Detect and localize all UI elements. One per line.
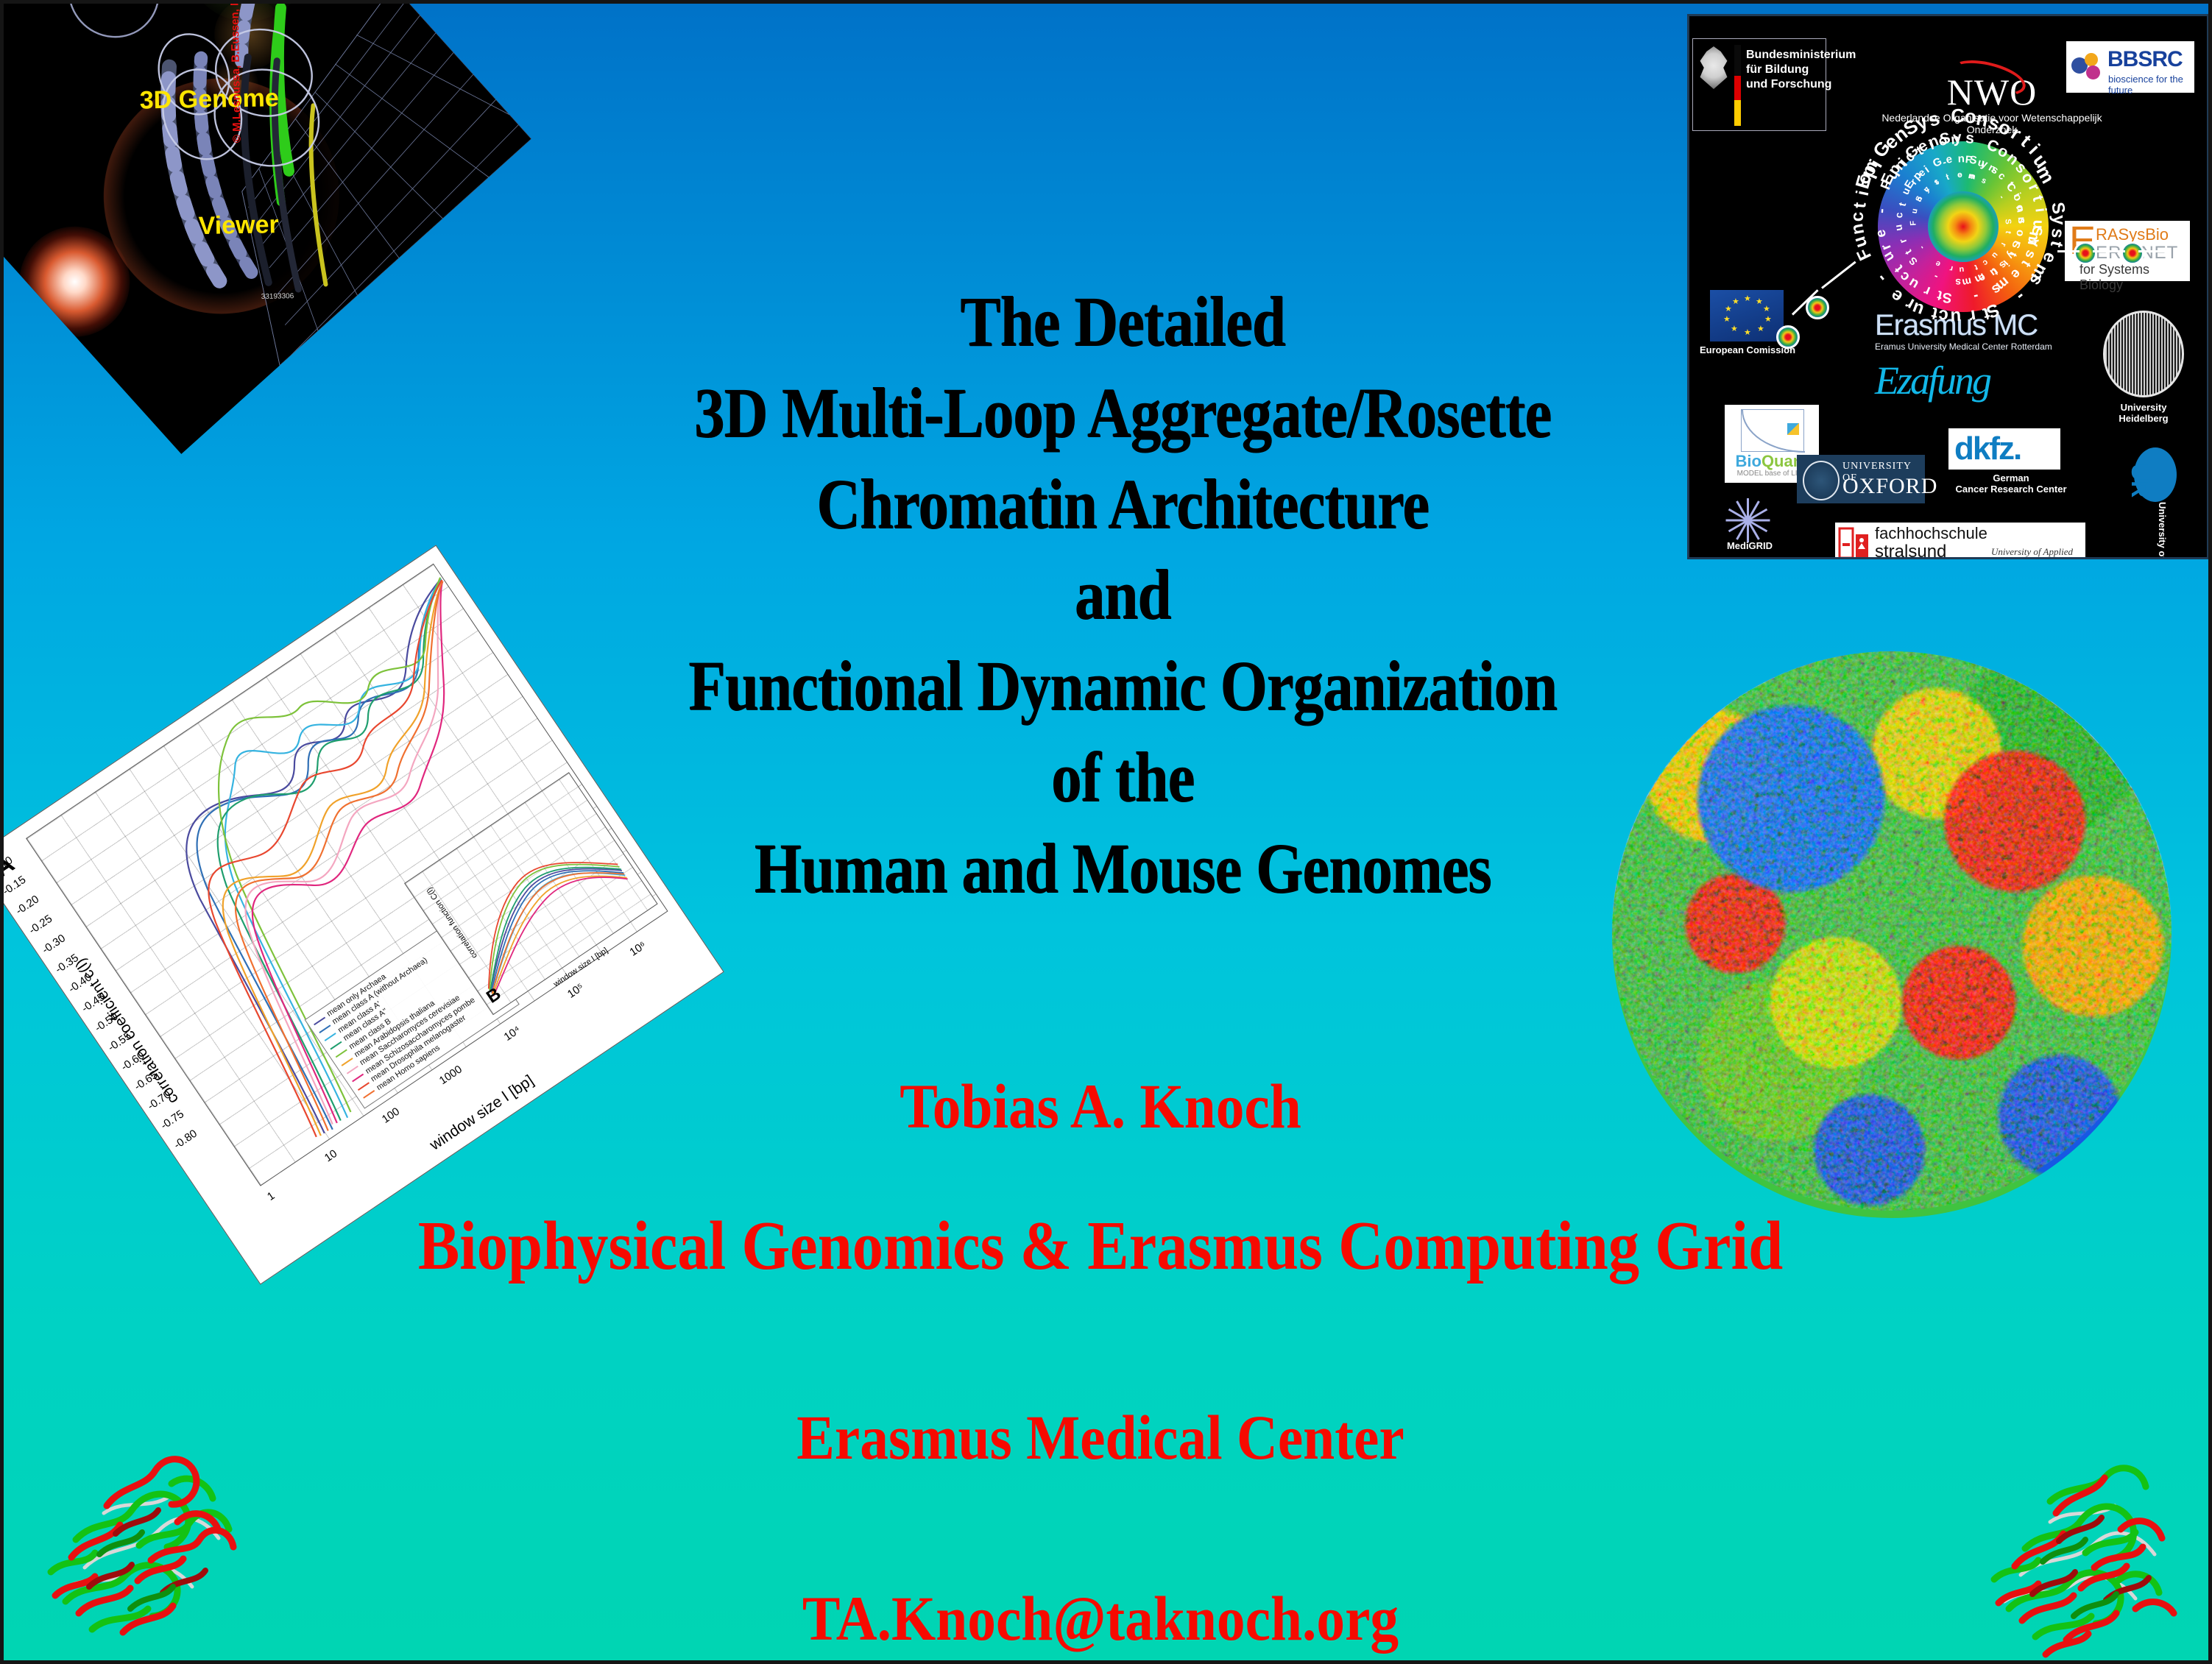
author-block: Tobias A. Knoch Biophysical Genomics & E… xyxy=(332,1074,1869,1650)
y-tick: -0.20 xyxy=(13,893,41,917)
regensburg-caption: University of Regensburg xyxy=(2157,502,2168,559)
author-name: Tobias A. Knoch xyxy=(332,1074,1869,1138)
genome-viewer-label-line2: Viewer xyxy=(198,210,279,241)
bbsrc-wordmark: BBSRC xyxy=(2107,47,2183,72)
title-line-4: and xyxy=(641,549,1603,640)
funders-logo-panel: Bundesministerium für Bildung und Forsch… xyxy=(1687,14,2209,559)
bbsrc-logo: BBSRC bioscience for the future xyxy=(2066,41,2194,93)
bmbf-line-2: für Bildung xyxy=(1746,63,1856,77)
epigensys-consortium-wheel: EpiGenSys ConsortiumSystems - Structure … xyxy=(1847,110,2080,343)
title-line-1: The Detailed xyxy=(641,276,1603,367)
bbsrc-tagline: bioscience for the future xyxy=(2108,74,2194,96)
stralsund-line-2: stralsund xyxy=(1875,542,1946,559)
bmbf-logo-text: Bundesministerium für Bildung und Forsch… xyxy=(1746,48,1856,92)
oxford-crest-icon xyxy=(1803,461,1840,500)
dkfz-line-2: Cancer Research Center xyxy=(1948,484,2074,495)
erasmus-mc-subtitle: Eramus University Medical Center Rotterd… xyxy=(1875,341,2059,352)
stralsund-logo: fachhochschule stralsund University of A… xyxy=(1835,523,2085,559)
heidelberg-logo: University Heidelberg xyxy=(2096,311,2191,414)
erasmus-signature-icon: Ezafung xyxy=(1875,358,2059,403)
dkfz-logo: dkfz. German Cancer Research Center xyxy=(1948,428,2074,509)
stralsund-mark-icon xyxy=(1838,527,1870,559)
dkfz-line-1: German xyxy=(1948,472,2074,484)
network-link xyxy=(2057,250,2080,252)
network-node-icon xyxy=(1776,325,1800,349)
title-line-2: 3D Multi-Loop Aggregate/Rosette xyxy=(641,367,1603,459)
heidelberg-seal-icon xyxy=(2103,311,2184,397)
european-commission-flag-icon: ★ ★ ★ ★ ★ ★ ★ ★ ★ ★ xyxy=(1710,290,1784,341)
spiral-square-icon xyxy=(1787,423,1799,435)
network-link xyxy=(2138,250,2168,252)
stralsund-line-3: University of Applied Sciences xyxy=(1991,546,2085,559)
bmbf-line-1: Bundesministerium xyxy=(1746,48,1856,63)
regensburg-wordmark: UR xyxy=(2126,464,2153,498)
medigrid-caption: MediGRID xyxy=(1706,540,1794,551)
network-node-icon xyxy=(2121,241,2144,265)
title-slide: TheGLOBEConsortium 3D Genome Viewer © M.… xyxy=(0,0,2212,1664)
x-tick: 1 xyxy=(265,1189,277,1203)
oxford-logo: UNIVERSITY OF OXFORD xyxy=(1797,455,1925,503)
medigrid-burst-icon xyxy=(1720,498,1773,543)
genome-viewer-image: TheGLOBEConsortium 3D Genome Viewer © M.… xyxy=(0,0,531,454)
network-node-icon xyxy=(2074,241,2097,265)
title-line-5: Functional Dynamic Organization xyxy=(641,640,1603,732)
medigrid-logo: MediGRID xyxy=(1706,498,1794,552)
genome-viewer-frame-number: 33193306 xyxy=(261,293,294,302)
stralsund-line-1: fachhochschule xyxy=(1875,524,1987,543)
network-link xyxy=(2093,250,2125,252)
dkfz-wordmark: dkfz. xyxy=(1948,428,2060,470)
genome-viewer-canvas: TheGLOBEConsortium 3D Genome Viewer © M.… xyxy=(0,0,531,454)
author-email[interactable]: TA.Knoch@taknoch.org xyxy=(332,1587,1869,1650)
dkfz-caption: German Cancer Research Center xyxy=(1948,472,2074,495)
title-line-3: Chromatin Architecture xyxy=(641,459,1603,550)
bmbf-line-3: und Forschung xyxy=(1746,77,1856,92)
x-tick: 10⁵ xyxy=(565,981,586,1001)
regensburg-logo: UR University of Regensburg xyxy=(2131,447,2197,558)
epigensys-inner-ring-text: EpiGenSys ConsortiumSystems - Structure … xyxy=(1847,110,2080,343)
author-institution: Erasmus Medical Center xyxy=(332,1406,1869,1469)
bmbf-logo: Bundesministerium für Bildung und Forsch… xyxy=(1692,38,1826,131)
x-tick: 10⁴ xyxy=(502,1024,523,1044)
heidelberg-caption: University Heidelberg xyxy=(2096,402,2191,424)
chromatin-fiber-right-image xyxy=(1962,1457,2190,1663)
x-tick: 10⁶ xyxy=(627,939,648,959)
bioquant-name-part1: Bio xyxy=(1735,452,1761,470)
author-group: Biophysical Genomics & Erasmus Computing… xyxy=(332,1211,1869,1281)
dkfz-wordmark-box: dkfz. xyxy=(1948,428,2060,470)
title-line-7: Human and Mouse Genomes xyxy=(641,823,1603,914)
german-flag-bar-icon xyxy=(1734,45,1741,126)
slide-title: The Detailed 3D Multi-Loop Aggregate/Ros… xyxy=(641,276,1603,914)
bbsrc-cells-icon xyxy=(2071,53,2107,81)
erasysbio-line-3: for Systems Biology xyxy=(2080,262,2190,293)
golden-spiral-icon xyxy=(1741,409,1804,452)
eu-stars-icon: ★ ★ ★ ★ ★ ★ ★ ★ ★ ★ xyxy=(1710,290,1784,341)
federal-eagle-icon xyxy=(1697,46,1730,89)
chromatin-fiber-left-image xyxy=(33,1442,261,1656)
oxford-line-2: OXFORD xyxy=(1842,474,1937,499)
title-line-6: of the xyxy=(641,732,1603,823)
genome-viewer-label-line1: 3D Genome xyxy=(139,84,279,115)
